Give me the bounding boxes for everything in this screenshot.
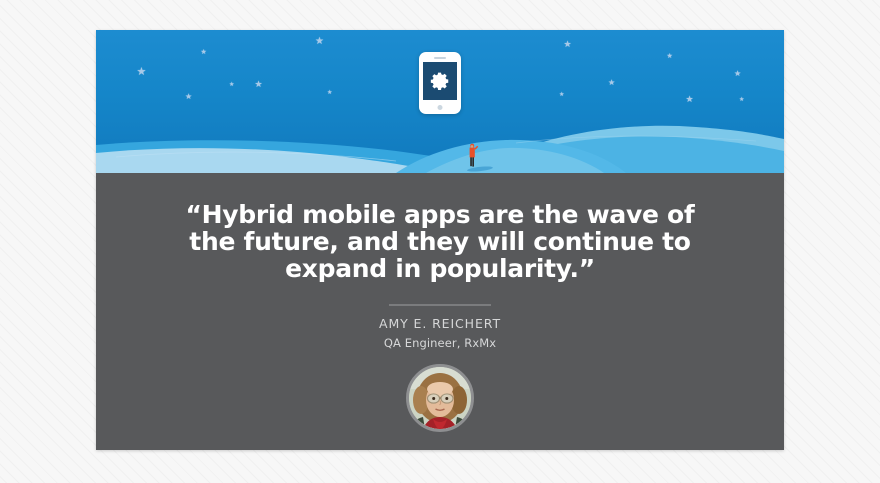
- testimonial-card: ★★★★★★★★★★★★★★: [96, 30, 784, 450]
- mountain-landscape-svg: [96, 113, 784, 173]
- star-icon: ★: [255, 80, 263, 89]
- phone-speaker: [434, 57, 446, 59]
- star-icon: ★: [185, 93, 192, 101]
- mobile-phone-icon: [419, 52, 461, 114]
- hero-illustration: ★★★★★★★★★★★★★★: [96, 30, 784, 173]
- star-icon: ★: [564, 40, 572, 49]
- star-icon: ★: [667, 53, 673, 60]
- author-name: AMY E. REICHERT: [166, 316, 714, 331]
- quote-text: “Hybrid mobile apps are the wave of the …: [175, 201, 705, 282]
- author-portrait-image: [409, 367, 471, 429]
- star-icon: ★: [739, 97, 744, 103]
- phone-home-button: [438, 105, 443, 110]
- attribution-divider: [389, 304, 491, 306]
- star-icon: ★: [686, 95, 694, 104]
- avatar: [406, 364, 474, 432]
- author-role: QA Engineer, RxMx: [166, 336, 714, 350]
- phone-screen: [423, 62, 457, 100]
- star-icon: ★: [201, 49, 207, 56]
- star-icon: ★: [229, 82, 234, 88]
- star-icon: ★: [559, 92, 564, 98]
- star-icon: ★: [327, 90, 332, 96]
- quote-panel: “Hybrid mobile apps are the wave of the …: [96, 173, 784, 450]
- star-icon: ★: [315, 37, 324, 47]
- star-icon: ★: [608, 79, 615, 87]
- star-icon: ★: [137, 67, 147, 78]
- star-icon: ★: [734, 70, 741, 78]
- gear-icon: [429, 70, 451, 92]
